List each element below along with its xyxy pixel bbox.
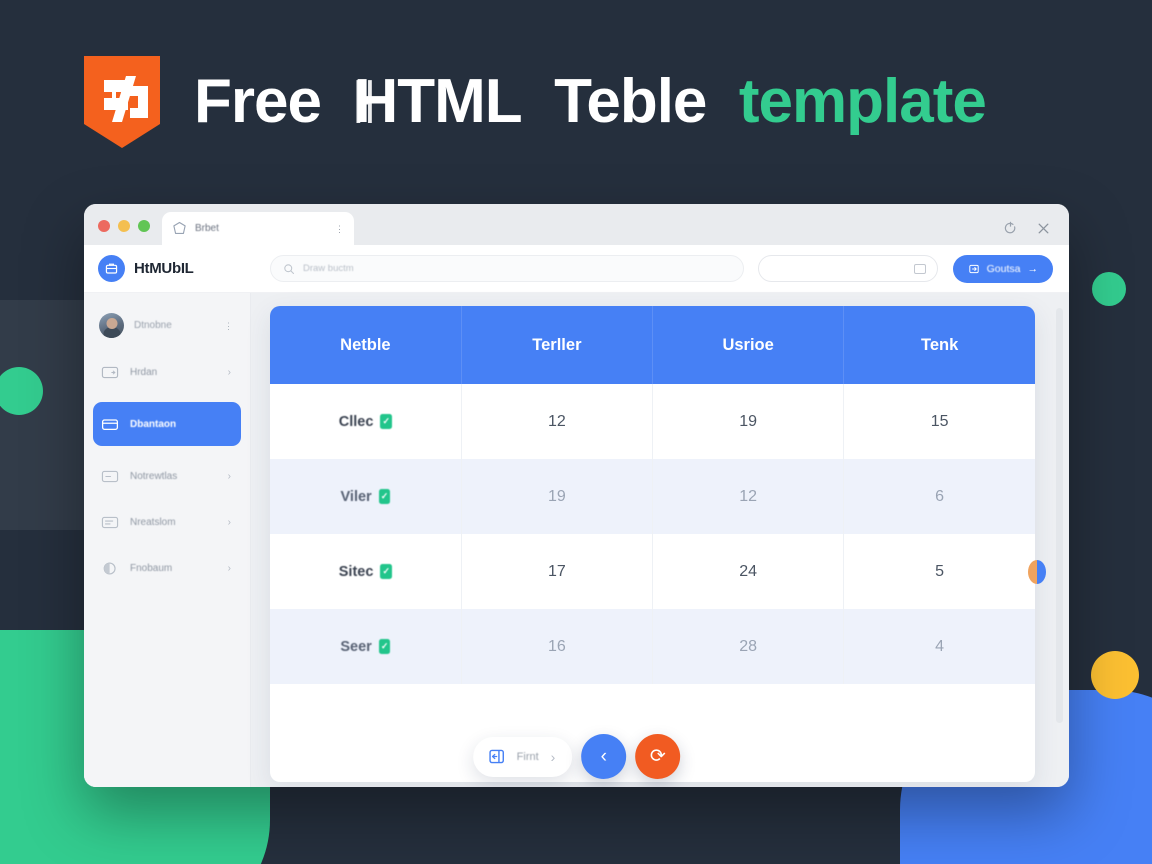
chevron-right-icon: › <box>228 563 231 574</box>
sidebar-item-label: Notrewtlas <box>130 471 217 482</box>
table-cell-value: 28 <box>653 609 844 684</box>
background-green-circle-right <box>1092 272 1126 306</box>
pentagon-tag-icon <box>172 221 187 236</box>
avatar <box>99 313 124 338</box>
title-word-table: Teble <box>554 67 706 136</box>
profile-name: Dtnobne <box>134 320 214 331</box>
column-header-terller[interactable]: Terller <box>461 306 652 384</box>
tab-dots-icon[interactable]: ⋮ <box>335 226 344 232</box>
table-cell-name: Seer ✓ <box>270 609 461 684</box>
browser-window: Brbet ⋮ <box>84 204 1069 787</box>
table-cell-name: Sitec ✓ <box>270 534 461 609</box>
app-body: Dtnobne ⋮ Hrdan › <box>84 293 1069 787</box>
column-header-usrioe[interactable]: Usrioe <box>653 306 844 384</box>
brand-name: HtMUbIL <box>134 260 194 277</box>
note-icon <box>101 469 119 484</box>
table-row[interactable]: Viler ✓ 19 12 6 <box>270 459 1035 534</box>
minimize-window-button[interactable] <box>118 220 130 232</box>
table-cell-value: 15 <box>844 384 1035 459</box>
table-row[interactable]: Cllec ✓ 12 19 15 <box>270 384 1035 459</box>
contrast-icon <box>101 561 119 576</box>
page-icon <box>488 748 505 765</box>
table-cell-value: 19 <box>461 459 652 534</box>
pager-pill[interactable]: Firnt › <box>473 737 573 777</box>
export-button-label: Goutsa <box>987 263 1021 275</box>
search-placeholder: Draw buctm <box>303 263 354 274</box>
card-icon <box>101 365 119 380</box>
export-icon <box>968 263 980 275</box>
main-content: Netble Terller Usrioe Tenk Cllec <box>251 293 1069 787</box>
table-cell-name: Viler ✓ <box>270 459 461 534</box>
background-yellow-circle <box>1091 651 1139 699</box>
table-cell-value: 17 <box>461 534 652 609</box>
sidebar-item-label: Hrdan <box>130 367 217 378</box>
table-cell-value: 24 <box>653 534 844 609</box>
column-header-tenk[interactable]: Tenk <box>844 306 1035 384</box>
refresh-icon[interactable] <box>1003 221 1018 236</box>
table-row[interactable]: Seer ✓ 16 28 4 <box>270 609 1035 684</box>
wallet-icon <box>101 417 119 432</box>
table-cell-value: 19 <box>653 384 844 459</box>
status-badge: ✓ <box>380 564 392 579</box>
sidebar-item-hrdan[interactable]: Hrdan › <box>93 356 241 388</box>
window-actions[interactable] <box>1003 221 1051 236</box>
chevron-right-icon: › <box>228 471 231 482</box>
column-header-netble[interactable]: Netble <box>270 306 461 384</box>
sidebar-item-label: Dbantaon <box>130 419 231 430</box>
briefcase-icon <box>98 255 125 282</box>
table-header-row: Netble Terller Usrioe Tenk <box>270 306 1035 384</box>
chevron-right-icon: › <box>228 517 231 528</box>
next-page-button[interactable]: ⟳ <box>635 734 680 779</box>
content-scrollbar[interactable] <box>1056 308 1063 723</box>
export-button-arrow: → <box>1028 263 1039 275</box>
search-input[interactable]: Draw buctm <box>270 255 744 282</box>
search-icon <box>283 263 295 275</box>
list-icon <box>101 515 119 530</box>
table-body: Cllec ✓ 12 19 15 <box>270 384 1035 756</box>
square-icon <box>914 264 926 274</box>
maximize-window-button[interactable] <box>138 220 150 232</box>
page-root: Free HTML Teble template Brbet ⋮ <box>0 0 1152 864</box>
title-word-html: HTML <box>353 71 521 133</box>
sidebar-item-label: Fnobaum <box>130 563 217 574</box>
table-cell-value: 4 <box>844 609 1035 684</box>
data-table: Netble Terller Usrioe Tenk Cllec <box>270 306 1035 756</box>
title-word-free: Free <box>194 67 321 136</box>
status-badge: ✓ <box>379 489 391 504</box>
more-vertical-icon[interactable]: ⋮ <box>224 324 233 328</box>
export-button[interactable]: Goutsa → <box>953 255 1053 283</box>
pager-label: Firnt <box>517 751 539 763</box>
sidebar: Dtnobne ⋮ Hrdan › <box>84 293 251 787</box>
data-table-card: Netble Terller Usrioe Tenk Cllec <box>270 306 1035 782</box>
table-row[interactable]: Sitec ✓ 17 24 5 <box>270 534 1035 609</box>
table-cell-name: Cllec ✓ <box>270 384 461 459</box>
row-name: Cllec <box>339 414 374 430</box>
table-header: Netble Terller Usrioe Tenk <box>270 306 1035 384</box>
prev-page-button[interactable]: ‹ <box>581 734 626 779</box>
html5-shield-logo-icon <box>78 52 166 152</box>
table-cell-value: 12 <box>653 459 844 534</box>
table-cell-value: 5 <box>844 534 1035 609</box>
sidebar-item-dbantaon[interactable]: Dbantaon <box>93 402 241 446</box>
tab-label: Brbet <box>195 223 327 234</box>
window-traffic-lights[interactable] <box>98 220 150 245</box>
status-badge: ✓ <box>380 414 392 429</box>
table-cell-value: 12 <box>461 384 652 459</box>
row-name: Seer <box>340 639 371 655</box>
hero-banner: Free HTML Teble template <box>78 52 986 152</box>
secondary-input[interactable] <box>758 255 938 282</box>
close-window-button[interactable] <box>98 220 110 232</box>
row-name: Viler <box>341 489 372 505</box>
row-name: Sitec <box>339 564 374 580</box>
browser-titlebar: Brbet ⋮ <box>84 204 1069 245</box>
app-brand[interactable]: HtMUbIL <box>98 255 256 282</box>
table-cell-value: 16 <box>461 609 652 684</box>
chevron-right-icon: › <box>551 749 556 765</box>
chevron-right-icon: › <box>228 367 231 378</box>
title-word-template: template <box>739 67 986 136</box>
app-header: HtMUbIL Draw buctm Goutsa → <box>84 245 1069 293</box>
profile-row[interactable]: Dtnobne ⋮ <box>93 307 241 344</box>
browser-tab[interactable]: Brbet ⋮ <box>162 212 354 245</box>
sidebar-item-notrewtlas[interactable]: Notrewtlas › <box>93 460 241 492</box>
footer-controls: Firnt › ‹ ⟳ <box>473 734 681 779</box>
sidebar-item-nreatslom[interactable]: Nreatslom › <box>93 506 241 538</box>
split-circle-badge-icon[interactable] <box>1028 560 1046 584</box>
status-badge: ✓ <box>379 639 391 654</box>
close-icon[interactable] <box>1036 221 1051 236</box>
page-title: Free HTML Teble template <box>194 71 986 133</box>
table-cell-value: 6 <box>844 459 1035 534</box>
sidebar-item-label: Nreatslom <box>130 517 217 528</box>
sidebar-item-fnobaum[interactable]: Fnobaum › <box>93 552 241 584</box>
